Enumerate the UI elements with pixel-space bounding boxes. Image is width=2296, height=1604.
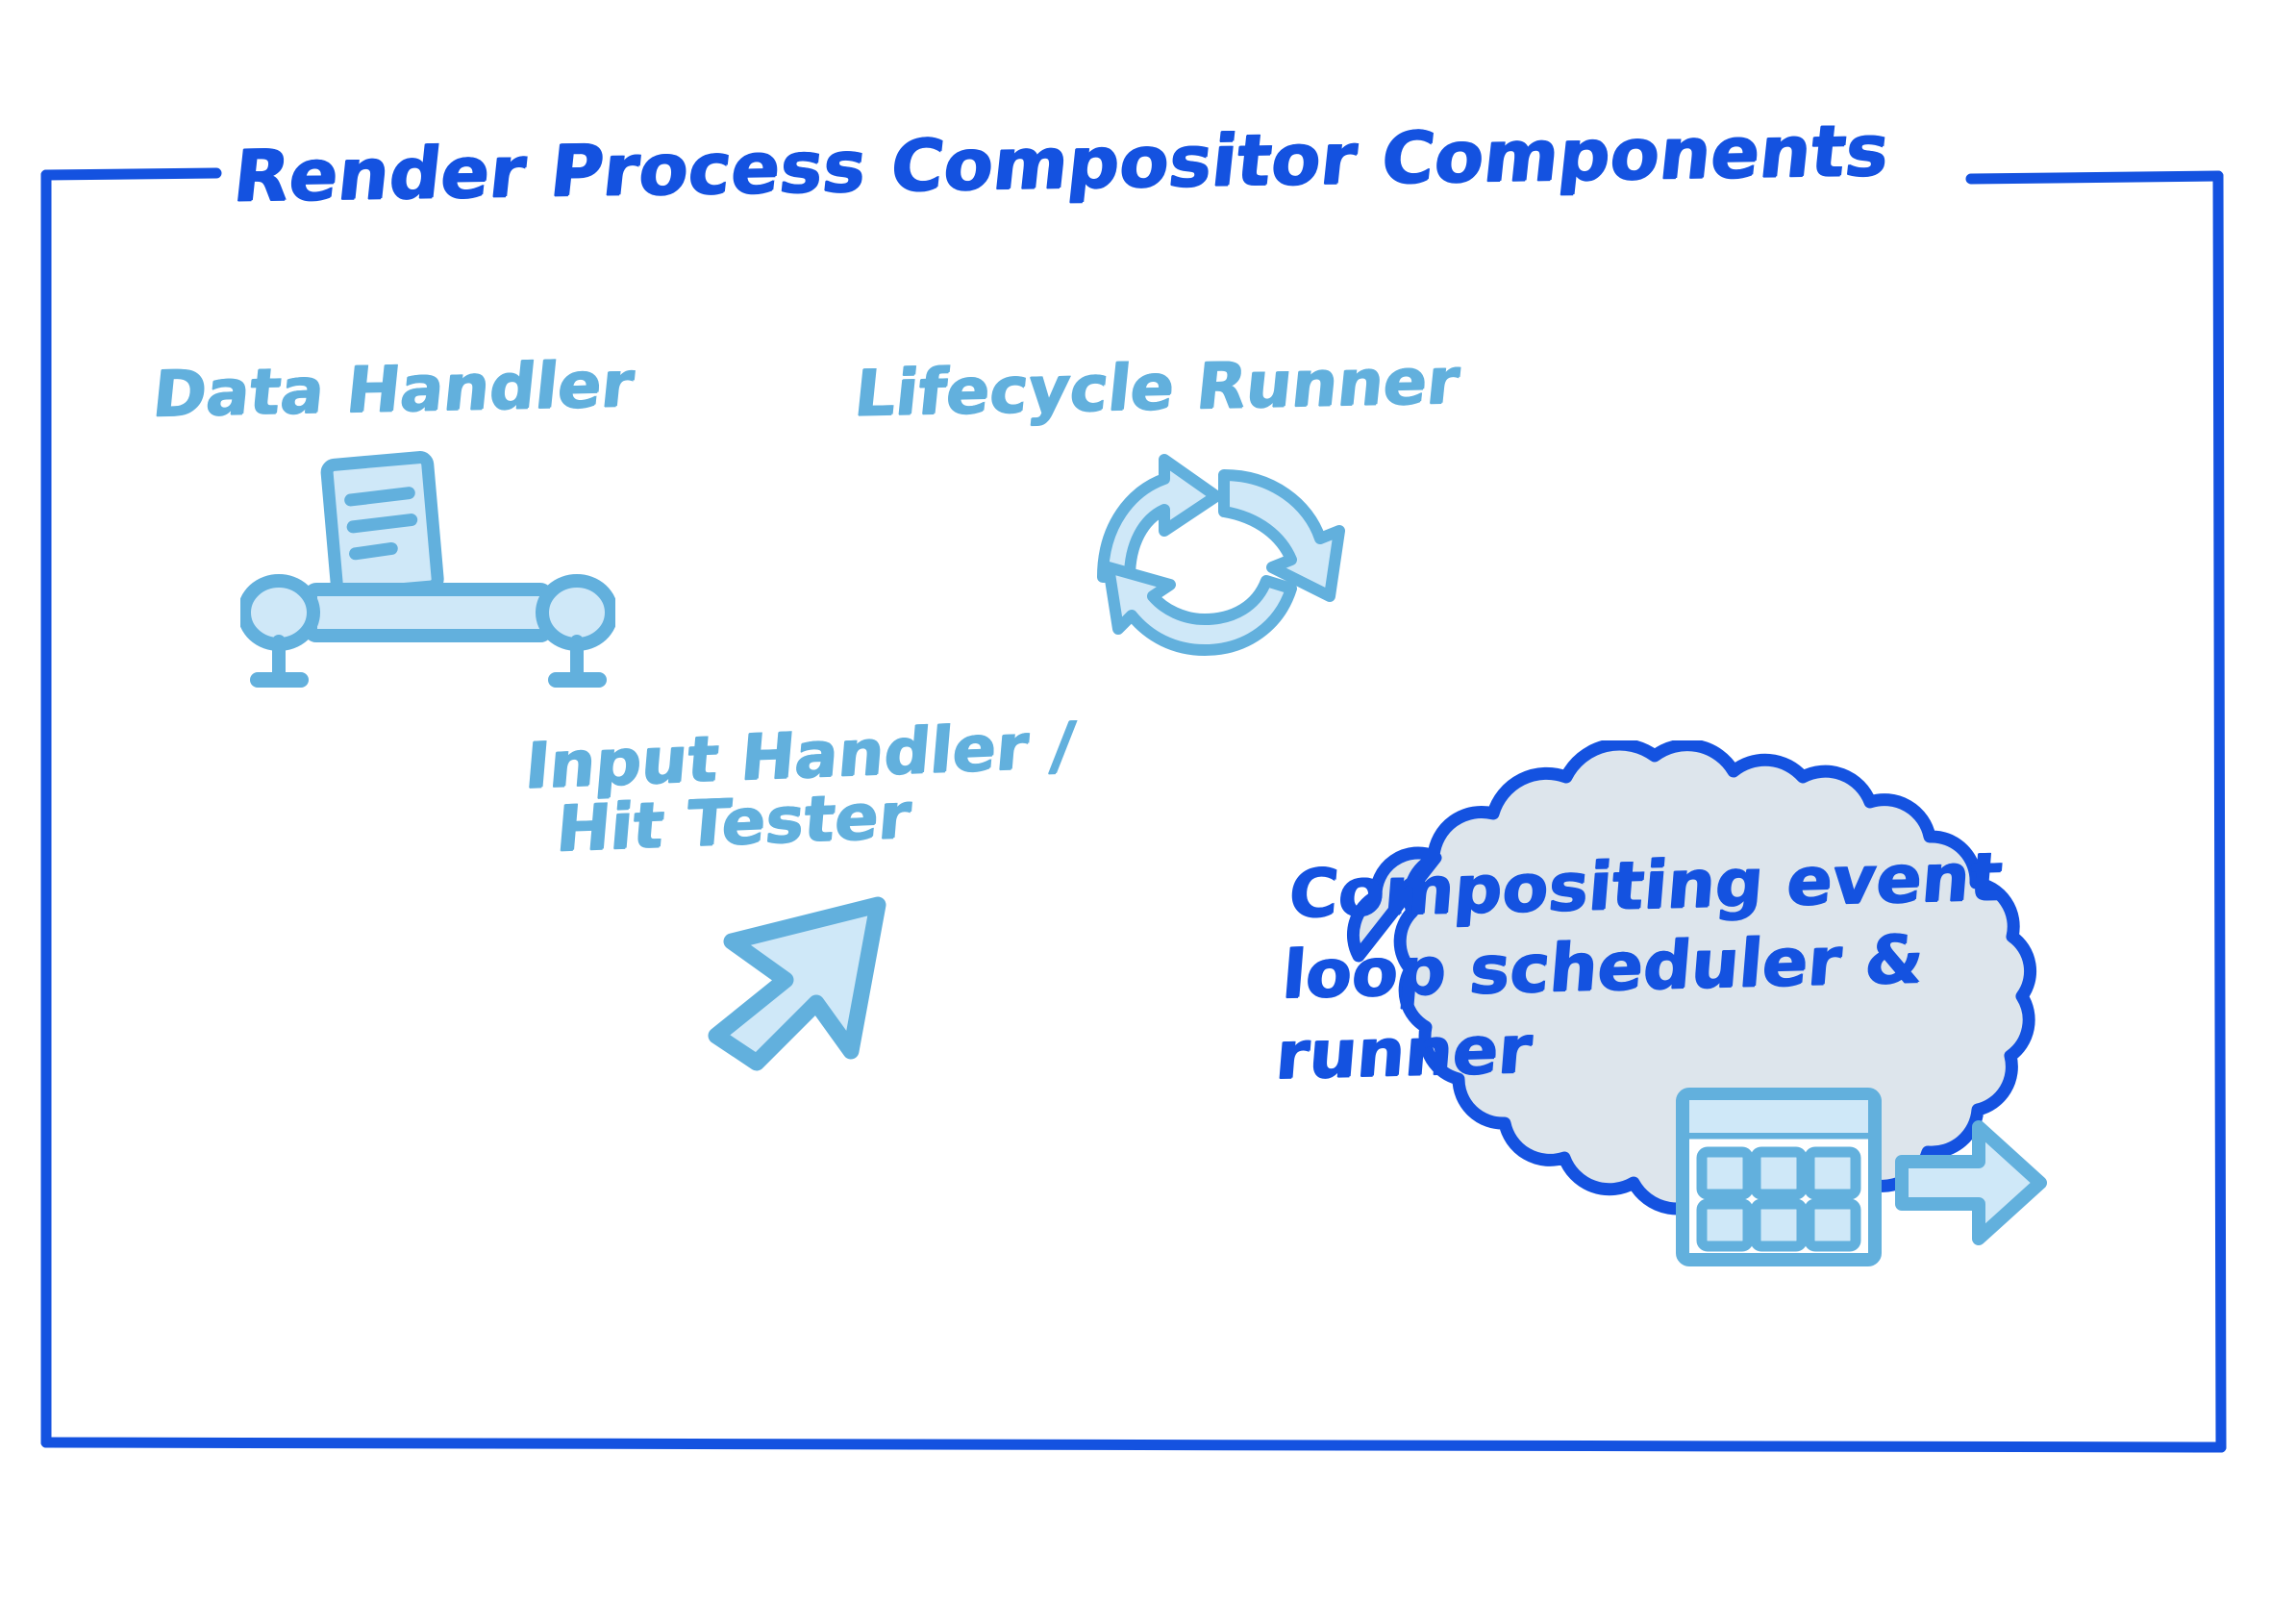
diagram-canvas: Render Process Compositor Components Dat… [0,0,2296,1604]
label-lifecycle-runner: Lifecycle Runner [852,347,1462,426]
mouse-cursor-icon [697,880,904,1077]
compositing-scheduler-cloud: Compositing eventloop scheduler &runner [1187,740,2168,1366]
recycle-cycle-arrows-icon [1082,454,1389,661]
calendar-grid-arrow-icon [1673,1087,2048,1269]
page-title: Render Process Compositor Components [230,114,1892,215]
label-input-handler-hit-tester: Input Handler /Hit Tester [517,713,1077,863]
cloud-text: Compositing eventloop scheduler &runner [1273,835,2083,1096]
conveyor-document-icon [240,447,615,688]
label-input-handler-line2: Hit Tester [517,777,1072,863]
label-data-handler: Data Handler [150,351,637,428]
